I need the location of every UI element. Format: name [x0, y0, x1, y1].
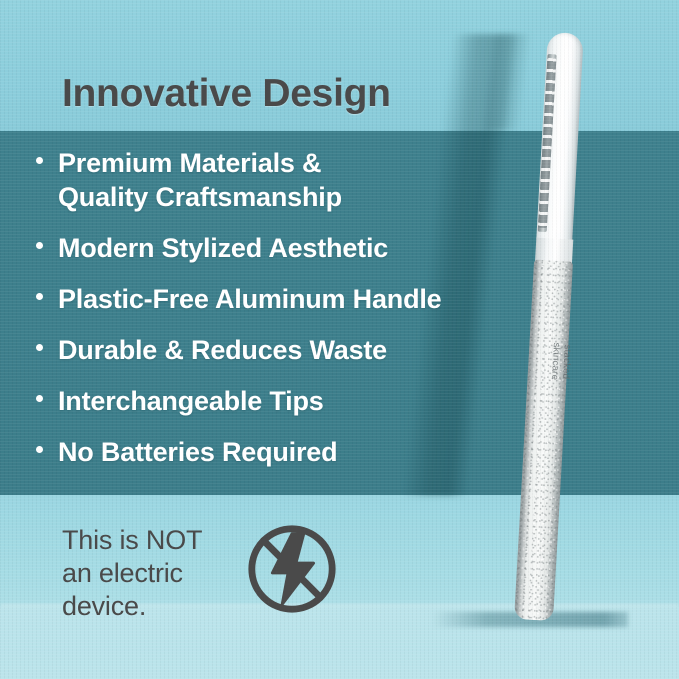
bullet-dot-icon	[36, 395, 43, 402]
list-item: Interchangeable Tips	[36, 384, 506, 418]
bullet-dot-icon	[36, 157, 43, 164]
list-item: Durable & Reduces Waste	[36, 333, 506, 367]
note-line-3: device.	[62, 590, 202, 623]
list-item: Modern Stylized Aesthetic	[36, 231, 506, 265]
feature-label: Interchangeable Tips	[58, 384, 324, 418]
list-item: No Batteries Required	[36, 435, 506, 469]
bullet-dot-icon	[36, 293, 43, 300]
feature-label: Premium Materials &Quality Craftsmanship	[58, 146, 342, 214]
feature-label: No Batteries Required	[58, 435, 337, 469]
bullet-dot-icon	[36, 344, 43, 351]
bullet-dot-icon	[36, 242, 43, 249]
page-title: Innovative Design	[62, 72, 391, 116]
list-item: Premium Materials &Quality Craftsmanship	[36, 146, 506, 214]
feature-label: Plastic-Free Aluminum Handle	[58, 282, 442, 316]
no-electricity-icon	[243, 520, 341, 618]
product-infographic: stacked skincare Innovative Design Premi…	[0, 0, 679, 679]
bullet-dot-icon	[36, 446, 43, 453]
note-line-1: This is NOT	[62, 524, 202, 557]
list-item: Plastic-Free Aluminum Handle	[36, 282, 506, 316]
feature-label: Durable & Reduces Waste	[58, 333, 387, 367]
not-electric-note: This is NOT an electric device.	[62, 524, 202, 623]
note-line-2: an electric	[62, 557, 202, 590]
feature-label: Modern Stylized Aesthetic	[58, 231, 388, 265]
feature-list: Premium Materials &Quality Craftsmanship…	[36, 146, 506, 486]
